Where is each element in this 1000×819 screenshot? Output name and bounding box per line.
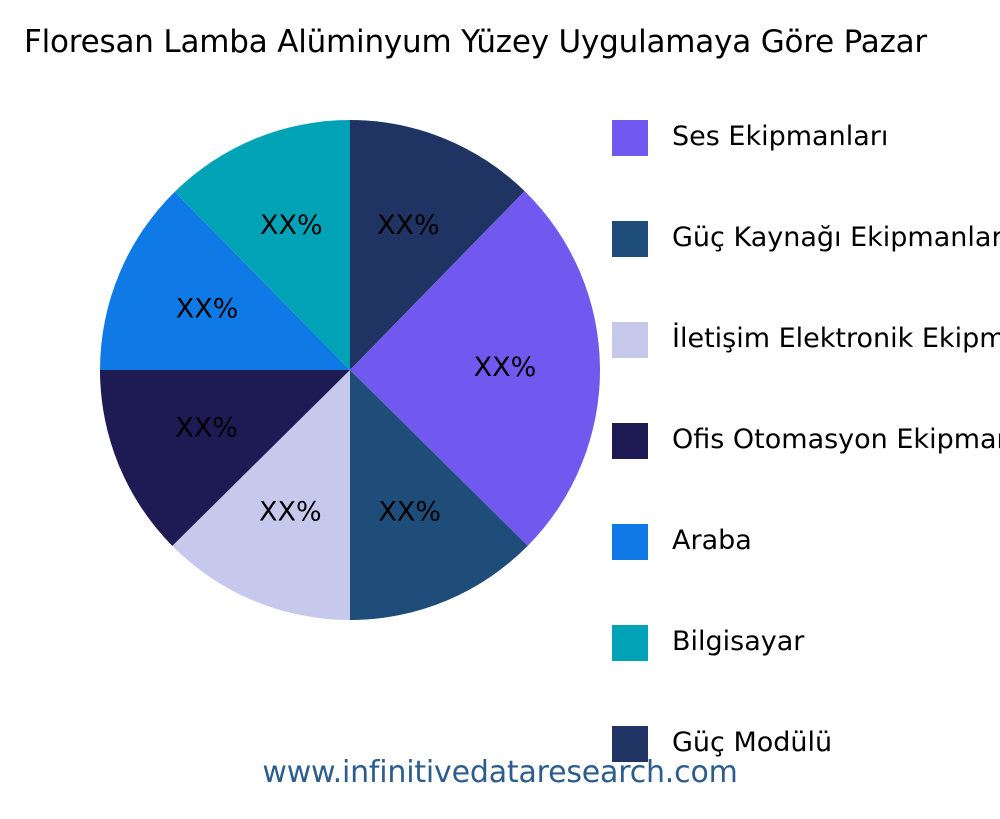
legend-swatch-icon xyxy=(612,322,648,358)
legend-item-label: Araba xyxy=(672,523,752,559)
legend-item-label: Bilgisayar xyxy=(672,624,804,660)
footer-url[interactable]: www.infinitivedataresearch.com xyxy=(0,755,1000,790)
page-title: Floresan Lamba Alüminyum Yüzey Uygulamay… xyxy=(24,22,1000,62)
legend-item[interactable]: Güç Kaynağı Ekipmanları xyxy=(612,213,1000,314)
legend-item-label: İletişim Elektronik Ekipmanları xyxy=(672,321,1000,357)
pie-slice-label: XX% xyxy=(378,497,441,528)
legend-swatch-icon xyxy=(612,625,648,661)
pie-chart-svg: XX%XX%XX%XX%XX%XX%XX% xyxy=(100,120,600,620)
pie-slice-label: XX% xyxy=(176,294,239,325)
pie-chart: XX%XX%XX%XX%XX%XX%XX% xyxy=(100,120,600,620)
legend-swatch-icon xyxy=(612,120,648,156)
legend-swatch-icon xyxy=(612,423,648,459)
legend-item[interactable]: İletişim Elektronik Ekipmanları xyxy=(612,314,1000,415)
pie-slice-label: XX% xyxy=(260,210,323,241)
pie-slice-label: XX% xyxy=(259,497,322,528)
legend-item[interactable]: Bilgisayar xyxy=(612,617,1000,718)
legend-swatch-icon xyxy=(612,221,648,257)
legend-item-label: Güç Kaynağı Ekipmanları xyxy=(672,220,1000,256)
legend-swatch-icon xyxy=(612,524,648,560)
legend: Ses EkipmanlarıGüç Kaynağı Ekipmanlarıİl… xyxy=(612,112,1000,819)
legend-item[interactable]: Ses Ekipmanları xyxy=(612,112,1000,213)
legend-item-label: Ofis Otomasyon Ekipmanları xyxy=(672,422,1000,458)
legend-item-label: Ses Ekipmanları xyxy=(672,119,888,155)
legend-item[interactable]: Araba xyxy=(612,516,1000,617)
pie-slice-label: XX% xyxy=(377,210,440,241)
pie-slice-label: XX% xyxy=(175,412,238,443)
legend-item[interactable]: Ofis Otomasyon Ekipmanları xyxy=(612,415,1000,516)
pie-slice-label: XX% xyxy=(474,352,537,383)
